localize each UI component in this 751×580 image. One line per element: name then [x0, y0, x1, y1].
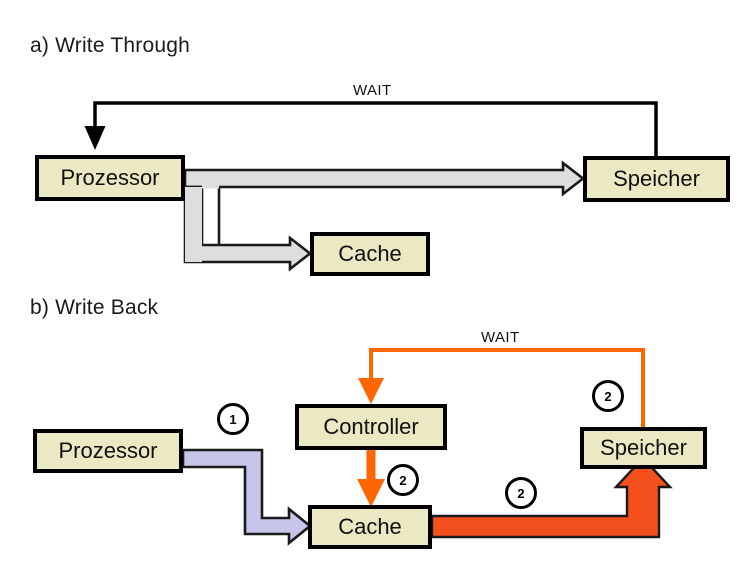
wb-controller-to-cache-arrow	[357, 449, 385, 507]
wb-node-prozessor[interactable]: Prozessor	[33, 429, 183, 473]
wb-step-badge-2-memory-controller: 2	[592, 380, 624, 412]
wb-node-speicher[interactable]: Speicher	[580, 427, 707, 469]
wt-wait-connector	[85, 103, 657, 157]
section-title-write-through: a) Write Through	[30, 34, 190, 58]
wb-node-cache[interactable]: Cache	[308, 505, 432, 549]
wt-node-prozessor-label: Prozessor	[60, 167, 159, 189]
wb-step-badge-2-cache-memory: 2	[505, 477, 537, 509]
wb-step-badge-2-controller-cache: 2	[387, 464, 419, 496]
diagram-canvas: a) Write Through b) Write Back Prozessor…	[0, 0, 751, 580]
wb-step-badge-1: 1	[217, 403, 249, 435]
wt-node-cache[interactable]: Cache	[310, 232, 430, 276]
section-title-write-back: b) Write Back	[30, 296, 158, 320]
wb-step-badge-2-memory-controller-label: 2	[604, 390, 611, 403]
wt-wait-label: WAIT	[353, 82, 392, 99]
wb-node-prozessor-label: Prozessor	[58, 440, 157, 462]
wb-node-controller-label: Controller	[323, 416, 418, 438]
wb-step-badge-1-label: 1	[229, 413, 236, 426]
wb-step-badge-2-controller-cache-label: 2	[399, 474, 406, 487]
wt-processor-to-cache-arrow	[185, 187, 310, 269]
wb-wait-label: WAIT	[481, 329, 520, 346]
wt-node-speicher[interactable]: Speicher	[583, 156, 730, 202]
wt-processor-to-memory-arrow	[185, 163, 583, 194]
wb-node-controller[interactable]: Controller	[295, 404, 447, 450]
wb-cache-to-memory-arrow	[432, 458, 670, 537]
wt-node-prozessor[interactable]: Prozessor	[35, 155, 185, 201]
wb-processor-to-cache-arrow	[183, 450, 310, 543]
wb-node-speicher-label: Speicher	[600, 437, 687, 459]
wt-node-speicher-label: Speicher	[613, 168, 700, 190]
wt-node-cache-label: Cache	[338, 243, 402, 265]
wb-step-badge-2-cache-memory-label: 2	[517, 487, 524, 500]
wb-node-cache-label: Cache	[338, 516, 402, 538]
